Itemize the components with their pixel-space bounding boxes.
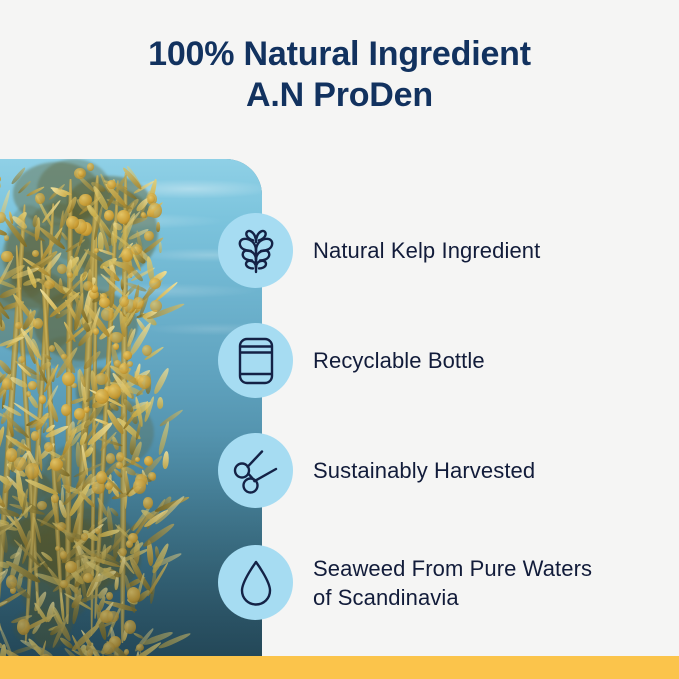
bottle-jar-icon — [218, 323, 293, 398]
water-drop-icon — [218, 545, 293, 620]
accent-bar — [0, 656, 679, 679]
feature-label: Natural Kelp Ingredient — [313, 236, 540, 265]
feature-row-bottle: Recyclable Bottle — [218, 323, 658, 398]
product-infographic: 100% Natural Ingredient A.N ProDen — [0, 0, 679, 679]
feature-row-waters: Seaweed From Pure Waters of Scandinavia — [218, 545, 658, 620]
feature-label: Seaweed From Pure Waters of Scandinavia — [313, 554, 592, 612]
feature-label: Sustainably Harvested — [313, 456, 535, 485]
feature-row-harvest: Sustainably Harvested — [218, 433, 658, 508]
kelp-leaf-icon — [218, 213, 293, 288]
scissors-icon — [218, 433, 293, 508]
feature-list: Natural Kelp Ingredient Recyclable Bottl… — [0, 0, 679, 679]
feature-row-kelp: Natural Kelp Ingredient — [218, 213, 658, 288]
feature-label: Recyclable Bottle — [313, 346, 485, 375]
